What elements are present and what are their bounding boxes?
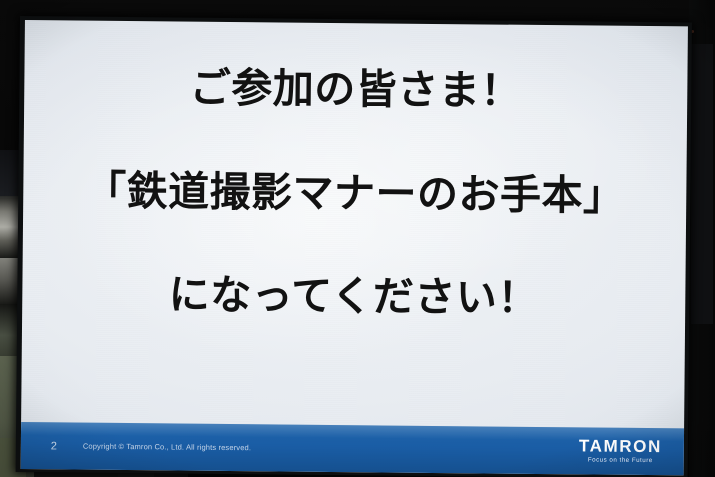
screen-bezel: ご参加の皆さま！ 「鉄道撮影マナーのお手本」 になってください！ 2 Copyr…: [16, 16, 692, 477]
background-shelf-lower: [0, 304, 18, 356]
slide-line-1: ご参加の皆さま！: [24, 66, 687, 113]
slide-body: ご参加の皆さま！ 「鉄道撮影マナーのお手本」 になってください！: [22, 62, 687, 320]
projection-screen: ご参加の皆さま！ 「鉄道撮影マナーのお手本」 になってください！ 2 Copyr…: [16, 16, 692, 477]
background-upper-strip: [0, 150, 20, 198]
screenshot-root: ご参加の皆さま！ 「鉄道撮影マナーのお手本」 になってください！ 2 Copyr…: [0, 0, 715, 477]
slide-footer: 2 Copyright © Tamron Co., Ltd. All right…: [21, 422, 684, 475]
tamron-logo: TAMRON Focus on the Future: [579, 438, 662, 465]
slide-line-3: になってください！: [22, 273, 685, 320]
slide-line-2: 「鉄道撮影マナーのお手本」: [23, 170, 686, 217]
copyright-text: Copyright © Tamron Co., Ltd. All rights …: [83, 442, 251, 453]
logo-wordmark: TAMRON: [579, 438, 662, 456]
right-wall-panel: [691, 44, 713, 324]
presentation-slide: ご参加の皆さま！ 「鉄道撮影マナーのお手本」 になってください！ 2 Copyr…: [21, 20, 688, 475]
slide-number: 2: [47, 440, 61, 452]
logo-tagline: Focus on the Future: [579, 457, 662, 464]
